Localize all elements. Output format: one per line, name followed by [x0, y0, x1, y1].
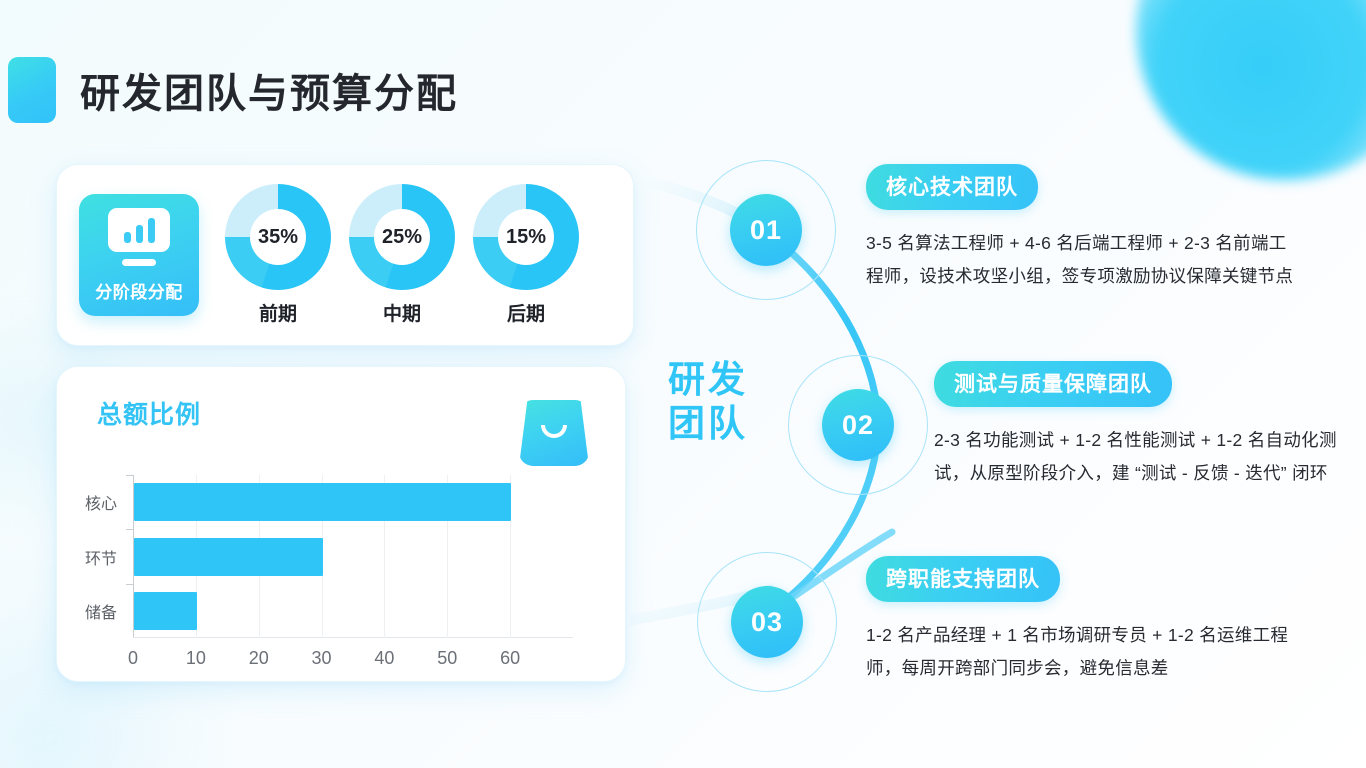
phase-allocation-tile: 分阶段分配 — [79, 194, 199, 316]
donut-label: 中期 — [383, 299, 421, 326]
y-tick-label: 储备 — [85, 599, 117, 623]
flow-content-03: 跨职能支持团队 1-2 名产品经理 + 1 名市场调研专员 + 1-2 名运维工… — [866, 556, 1296, 685]
x-tick-label: 50 — [437, 648, 457, 669]
bar-核心 — [134, 483, 511, 521]
node-number: 03 — [731, 586, 803, 658]
x-tick-label: 40 — [374, 648, 394, 669]
donut-item: 15% 后期 — [473, 184, 579, 326]
x-tick-label: 30 — [312, 648, 332, 669]
flow-node-03[interactable]: 03 — [697, 552, 837, 692]
section-pill-01: 核心技术团队 — [866, 164, 1038, 210]
phase-tile-label: 分阶段分配 — [95, 278, 183, 303]
phase-allocation-card: 分阶段分配 35% 前期 25% 中期 15% 后期 — [56, 164, 634, 346]
donut-item: 35% 前期 — [225, 184, 331, 326]
section-desc-02: 2-3 名功能测试 + 1-2 名性能测试 + 1-2 名自动化测试，从原型阶段… — [934, 424, 1364, 490]
y-tick — [126, 529, 133, 530]
flow-content-01: 核心技术团队 3-5 名算法工程师 + 4-6 名后端工程师 + 2-3 名前端… — [866, 164, 1296, 293]
donut-value: 15% — [473, 184, 579, 290]
monitor-bar-chart-icon — [108, 208, 170, 252]
y-tick-label: 核心 — [85, 490, 117, 514]
donut-label: 后期 — [507, 299, 545, 326]
section-pill-03: 跨职能支持团队 — [866, 556, 1060, 602]
total-ratio-card: 总额比例 0102030405060核心环节储备 — [56, 366, 626, 682]
bar-储备 — [134, 592, 197, 630]
y-tick — [126, 475, 133, 476]
section-pill-02: 测试与质量保障团队 — [934, 361, 1172, 407]
x-tick-label: 0 — [128, 648, 138, 669]
donut-item: 25% 中期 — [349, 184, 455, 326]
top-right-blob-decoration — [1136, 0, 1366, 180]
flow-node-01[interactable]: 01 — [696, 160, 836, 300]
flow-node-02[interactable]: 02 — [788, 355, 928, 495]
title-accent-bar — [8, 57, 56, 123]
node-number: 02 — [822, 389, 894, 461]
section-desc-01: 3-5 名算法工程师 + 4-6 名后端工程师 + 2-3 名前端工程师，设技术… — [866, 227, 1296, 293]
donut-label: 前期 — [259, 299, 297, 326]
smile-arc-icon — [541, 425, 567, 438]
donut-chart-group: 35% 前期 25% 中期 15% 后期 — [225, 184, 579, 326]
x-tick-label: 20 — [249, 648, 269, 669]
node-number: 01 — [730, 194, 802, 266]
donut-value: 35% — [225, 184, 331, 290]
shopping-bag-smile-icon — [519, 400, 589, 466]
x-axis-line — [133, 637, 573, 638]
flow-content-02: 测试与质量保障团队 2-3 名功能测试 + 1-2 名性能测试 + 1-2 名自… — [934, 361, 1364, 490]
section-desc-03: 1-2 名产品经理 + 1 名市场调研专员 + 1-2 名运维工程师，每周开跨部… — [866, 619, 1296, 685]
donut-chart-qianqi: 35% — [225, 184, 331, 290]
page-header: 研发团队与预算分配 — [8, 57, 458, 123]
x-tick-label: 10 — [186, 648, 206, 669]
x-tick-label: 60 — [500, 648, 520, 669]
donut-value: 25% — [349, 184, 455, 290]
bar-chart-plot-area: 0102030405060核心环节储备 — [133, 475, 573, 638]
donut-chart-zhongqi: 25% — [349, 184, 455, 290]
page-title: 研发团队与预算分配 — [80, 61, 458, 119]
donut-chart-houqi: 15% — [473, 184, 579, 290]
y-tick-label: 环节 — [85, 545, 117, 569]
monitor-stand-icon — [122, 259, 156, 266]
y-tick — [126, 584, 133, 585]
total-ratio-title: 总额比例 — [97, 395, 201, 431]
bar-环节 — [134, 538, 323, 576]
